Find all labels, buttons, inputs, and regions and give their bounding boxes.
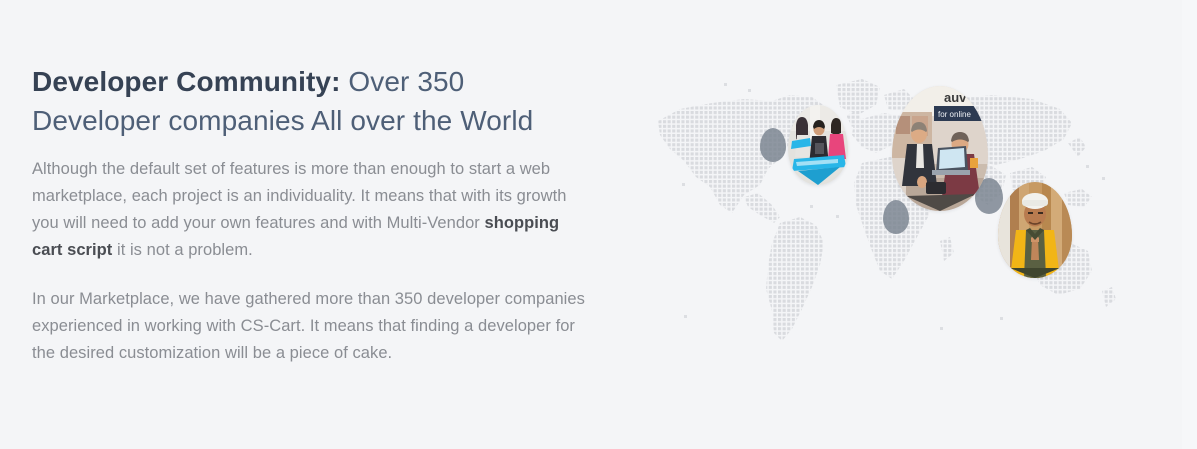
- page-title: Developer Community: Over 350 Developer …: [32, 62, 592, 140]
- map-pin-photo-europe-team[interactable]: [788, 105, 848, 185]
- map-pin-photo-office-team[interactable]: auv for online: [892, 86, 988, 211]
- paragraph-2: In our Marketplace, we have gathered mor…: [32, 286, 588, 367]
- svg-text:auv: auv: [944, 90, 967, 105]
- map-pin-north-america[interactable]: [760, 128, 786, 162]
- map-column: auv for online: [630, 40, 1130, 410]
- text-column: Developer Community: Over 350 Developer …: [32, 62, 592, 367]
- paragraph-1: Although the default set of features is …: [32, 156, 588, 264]
- paragraph-1-after-bold: it is not a problem.: [112, 241, 252, 259]
- page-title-lead: Developer Community:: [32, 66, 341, 97]
- world-map-illustration: auv for online: [630, 40, 1130, 410]
- svg-text:for online: for online: [938, 110, 971, 119]
- developer-community-section: Developer Community: Over 350 Developer …: [0, 0, 1197, 449]
- map-pin-photo-man-white-cap[interactable]: [998, 182, 1072, 278]
